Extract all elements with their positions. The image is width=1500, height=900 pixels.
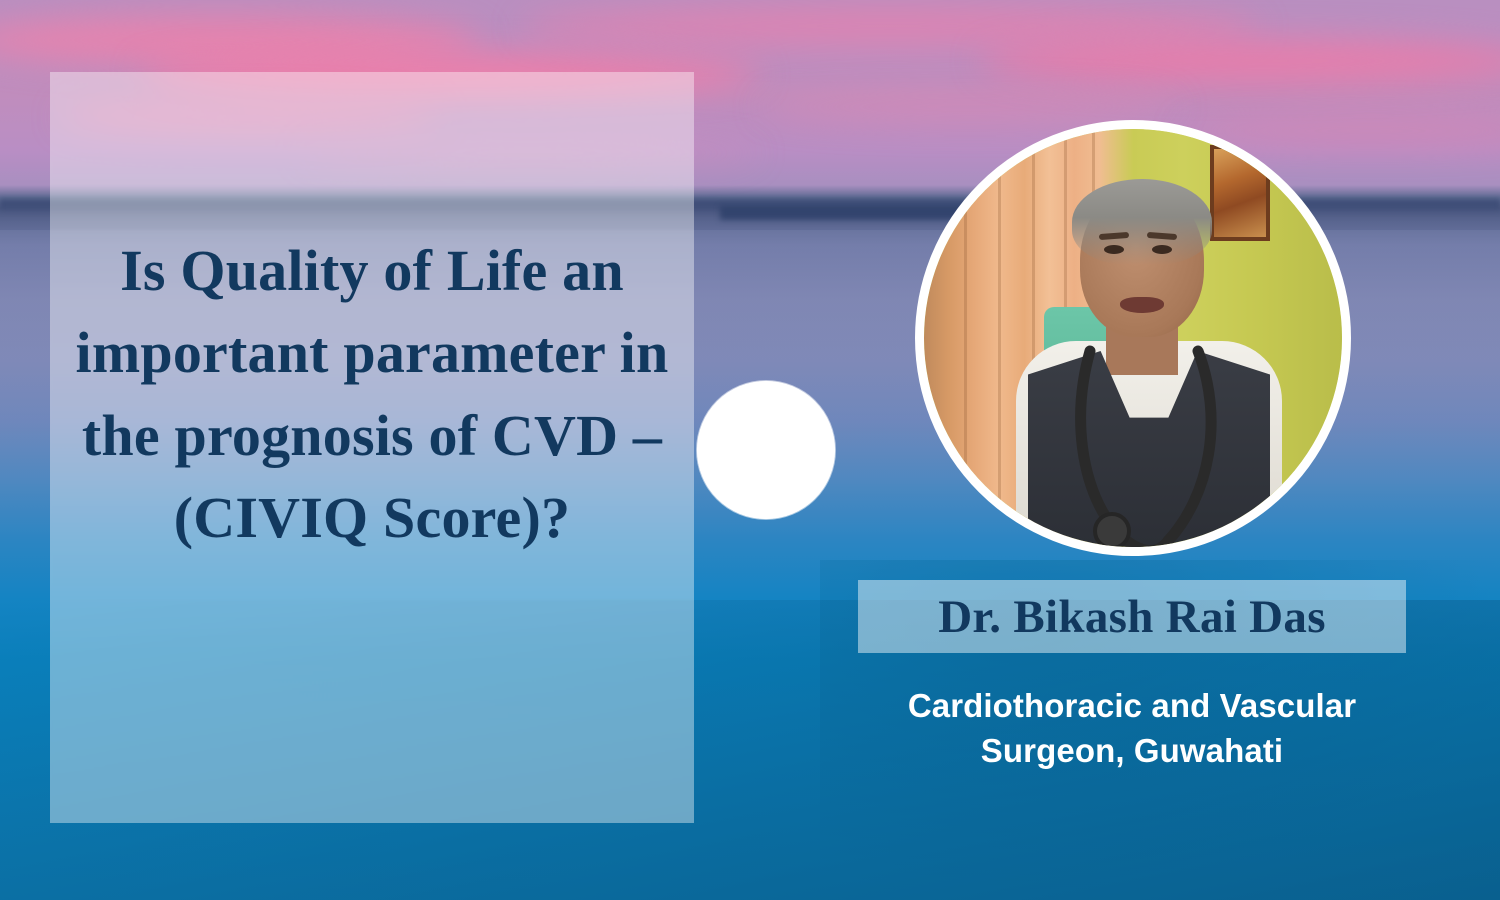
curtain-fold <box>998 129 1001 547</box>
eye-left <box>1104 245 1124 254</box>
avatar <box>915 120 1351 556</box>
speaker-name: Dr. Bikash Rai Das <box>938 590 1326 644</box>
video-thumbnail-card: Is Quality of Life an important paramete… <box>0 0 1500 900</box>
speaker-credentials-line-1: Cardiothoracic and Vascular <box>830 684 1434 729</box>
mouth <box>1120 297 1164 313</box>
stethoscope-icon <box>1028 345 1258 547</box>
speaker-credentials-line-2: Surgeon, Guwahati <box>830 729 1434 774</box>
speaker-credentials: Cardiothoracic and Vascular Surgeon, Guw… <box>830 684 1434 773</box>
play-triangle-icon <box>697 381 835 519</box>
hair <box>1072 179 1212 265</box>
eye-right <box>1152 245 1172 254</box>
wall-picture-frame <box>1210 145 1270 241</box>
speaker-name-band: Dr. Bikash Rai Das <box>858 580 1406 653</box>
page-title: Is Quality of Life an important paramete… <box>50 230 694 559</box>
curtain-fold <box>964 129 967 547</box>
wall-picture-art <box>1214 149 1266 237</box>
play-button[interactable] <box>697 381 835 519</box>
avatar-photo <box>924 129 1342 547</box>
